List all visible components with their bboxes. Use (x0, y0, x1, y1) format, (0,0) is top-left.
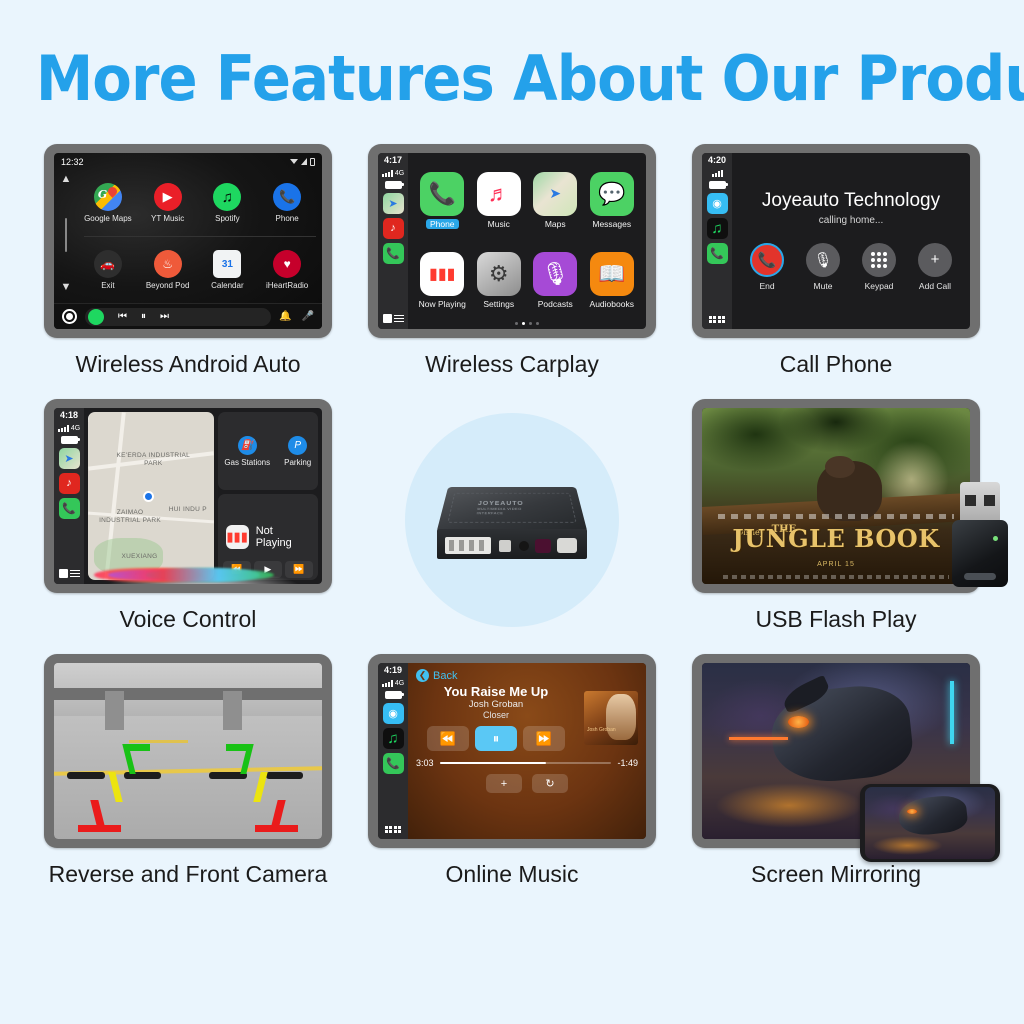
android-auto-app-grid-row2: 🚗 Exit ♨ Beyond Pod 31 Calendar (78, 237, 322, 303)
page-dot[interactable] (515, 322, 518, 325)
artwork-eye (907, 809, 917, 814)
button-label: Add Call (919, 281, 951, 291)
feature-cell-call-phone: 4:20 ◉ ♫ 📞 Joyeauto Technology calling h… (674, 144, 998, 399)
music-main: ❮ Back You Raise Me Up Josh Groban Close… (408, 663, 646, 839)
signal-icon (58, 425, 69, 432)
track-artist: Josh Groban (469, 699, 523, 710)
carplay-clock: 4:17 (384, 156, 402, 166)
media-controls: ⏮ ⏸ ⏭ (85, 308, 271, 326)
mute-microphone-icon: 🎙 (806, 243, 840, 277)
fast-forward-icon[interactable]: ⏩ (523, 726, 565, 751)
carplay-app-grid: 📞 Phone ♬ Music ➤ Maps 💬 (408, 153, 646, 322)
tablet-frame-camera (44, 654, 332, 848)
guide-bar-red (78, 825, 121, 832)
android-auto-bottom-bar: ⏮ ⏸ ⏭ 🔔 🎤 (54, 303, 322, 329)
button-label: End (759, 281, 774, 291)
netease-music-icon[interactable]: ♪ (383, 218, 404, 239)
poi-label: Gas Stations (224, 458, 270, 467)
next-track-icon[interactable]: ⏭ (160, 311, 169, 322)
mirrored-phone (860, 784, 1000, 862)
phone-icon[interactable]: 📞 (707, 243, 728, 264)
power-connector-icon (445, 537, 491, 554)
carplay-signal-row: 4G (382, 170, 404, 177)
network-label: 4G (395, 680, 404, 687)
playback-controls: ⏪ ⏸ ⏩ (427, 726, 565, 751)
feature-caption: Call Phone (780, 351, 893, 378)
add-call-button[interactable]: + Add Call (918, 243, 952, 291)
feature-cell-online-music: 4:19 4G ◉ ♫ 📞 ❮ Back (350, 654, 674, 909)
app-label: Now Playing (419, 299, 466, 309)
music-icon: ♬ (477, 172, 521, 216)
android-auto-app-google-maps[interactable]: G Google Maps (78, 170, 138, 236)
grid-view-icon[interactable] (383, 314, 392, 323)
map-label: KE'ERDA INDUSTRIAL PARK (116, 452, 191, 467)
remaining-time: -1:49 (617, 758, 638, 768)
feature-cell-usb-flash-play: Disney THE JUNGLE BOOK APRIL 15 USB Flas… (674, 399, 998, 654)
guide-bar-green (126, 744, 150, 751)
carplay-app-music[interactable]: ♬ Music (471, 160, 528, 240)
guide-line-yellow (254, 772, 268, 802)
map-label: ZAIMAO INDUSTRIAL PARK (96, 509, 165, 524)
app-label: Settings (483, 299, 514, 309)
rewind-icon[interactable]: ⏪ (427, 726, 469, 751)
android-auto-screen: 12:32 ▲ ▼ (54, 153, 322, 329)
google-maps-icon: G (94, 183, 122, 211)
microphone-icon[interactable]: 🎤 (302, 311, 314, 322)
app-label: Beyond Pod (146, 281, 190, 290)
android-auto-status-bar: 12:32 (54, 153, 322, 170)
now-playing-icon: ▮▮▮ (226, 525, 249, 549)
android-auto-app-phone[interactable]: 📞 Phone (257, 170, 317, 236)
android-auto-app-yt-music[interactable]: ▶ YT Music (138, 170, 198, 236)
feature-caption: Online Music (446, 861, 579, 888)
keypad-grid-icon[interactable] (709, 316, 726, 324)
current-location-icon (143, 491, 154, 502)
android-auto-app-iheartradio[interactable]: ♥ iHeartRadio (257, 237, 317, 303)
android-auto-system-icons (290, 158, 315, 166)
battery-icon (709, 181, 726, 189)
artwork-figure (606, 694, 636, 740)
call-button-row: 📞 End 🎙 Mute Keypad + (750, 243, 952, 291)
tablet-frame-voice: 4:18 4G ➤ ♪ 📞 (44, 399, 332, 593)
keypad-grid-icon[interactable] (385, 826, 402, 834)
feature-cell-device: JOYEAUTO MULTIMEDIA VIDEO INTERFACE (350, 399, 674, 654)
app-label: Maps (545, 219, 566, 229)
usb-port-icon (499, 540, 511, 552)
app-label: Phone (276, 214, 299, 223)
iheartradio-icon: ♥ (273, 250, 301, 278)
calendar-icon: 31 (213, 250, 241, 278)
artwork-neon (729, 737, 788, 740)
android-auto-right-icons: 🔔 🎤 (279, 311, 314, 322)
siri-waveform (84, 554, 322, 584)
podcasts-icon: 🎙 (533, 252, 577, 296)
keypad-button[interactable]: Keypad (862, 243, 896, 291)
tablet-frame-music: 4:19 4G ◉ ♫ 📞 ❮ Back (368, 654, 656, 848)
signal-icon (712, 170, 723, 177)
app-label: Calendar (211, 281, 243, 290)
app-label: Phone (426, 219, 459, 229)
youtube-music-icon: ▶ (154, 183, 182, 211)
phone-icon[interactable]: 📞 (383, 243, 404, 264)
voice-signal-row: 4G (58, 425, 80, 432)
android-auto-app-exit[interactable]: 🚗 Exit (78, 237, 138, 303)
android-auto-app-grid-row1: G Google Maps ▶ YT Music ♫ Spotify (78, 170, 322, 236)
siri-icon[interactable]: ◉ (707, 193, 728, 214)
carplay-home-screen: 4:17 4G ➤ ♪ 📞 (378, 153, 646, 329)
device-front-panel (437, 529, 587, 559)
signal-icon (382, 170, 393, 177)
grid-view-icon[interactable] (59, 569, 68, 578)
voice-control-screen: 4:18 4G ➤ ♪ 📞 (54, 408, 322, 584)
feature-cell-screen-mirroring: Screen Mirroring (674, 654, 998, 909)
previous-track-icon[interactable]: ⏮ (118, 311, 127, 322)
progress-row: 3:03 -1:49 (416, 758, 638, 768)
music-sidebar: 4:19 4G ◉ ♫ 📞 (378, 663, 408, 839)
garage-pillar (223, 691, 242, 730)
audio-jack-icon (519, 541, 529, 551)
battery-icon (385, 181, 402, 189)
tablet-frame-call: 4:20 ◉ ♫ 📞 Joyeauto Technology calling h… (692, 144, 980, 338)
track-title: You Raise Me Up (444, 684, 549, 699)
chevron-down-icon[interactable]: ▼ (61, 282, 72, 293)
garage-pillar (105, 691, 124, 730)
now-playing-status: Not Playing (256, 525, 310, 549)
music-player-screen: 4:19 4G ◉ ♫ 📞 ❮ Back (378, 663, 646, 839)
battery-icon (310, 158, 315, 166)
usb-led (993, 536, 998, 541)
carplay-sidebar: 4:17 4G ➤ ♪ 📞 (378, 153, 408, 329)
carplay-app-settings[interactable]: ⚙ Settings (471, 240, 528, 320)
fakra-connector-icon (557, 538, 577, 553)
poi-label: Parking (284, 458, 311, 467)
end-call-icon: 📞 (750, 243, 784, 277)
network-label: 4G (395, 170, 404, 177)
call-clock: 4:20 (708, 156, 726, 166)
track-info: You Raise Me Up Josh Groban Closer ⏪ ⏸ ⏩ (416, 684, 576, 751)
app-label: Google Maps (84, 214, 132, 223)
list-view-icon[interactable] (394, 314, 404, 323)
carplay-app-now-playing[interactable]: ▮▮▮ Now Playing (414, 240, 471, 320)
android-auto-app-spotify[interactable]: ♫ Spotify (198, 170, 258, 236)
progress-bar[interactable] (440, 762, 612, 764)
feature-cell-android-auto: 12:32 ▲ ▼ (26, 144, 350, 399)
android-auto-body: ▲ ▼ G Google Maps ▶ YT Music (54, 170, 322, 303)
release-date: APRIL 15 (702, 561, 970, 568)
audiobooks-icon: 📖 (590, 252, 634, 296)
back-label: Back (433, 670, 457, 682)
tablet-frame-mirroring (692, 654, 980, 848)
movie-poster: Disney THE JUNGLE BOOK APRIL 15 (702, 408, 970, 584)
progress-fill (440, 762, 547, 764)
device-brand-label: JOYEAUTO MULTIMEDIA VIDEO INTERFACE (476, 501, 547, 515)
maps-icon[interactable]: ➤ (59, 448, 80, 469)
guide-bar-red (255, 825, 298, 832)
track-row: You Raise Me Up Josh Groban Closer ⏪ ⏸ ⏩ (416, 684, 638, 751)
usb-grip (964, 573, 996, 580)
game-artwork-mirrored (865, 787, 995, 859)
poi-gas-stations[interactable]: ⛽ Gas Stations (224, 436, 270, 467)
poi-card: ⛽ Gas Stations P Parking (218, 412, 318, 490)
wifi-icon (290, 159, 298, 164)
pause-icon[interactable]: ⏸ (141, 311, 146, 322)
app-label: Messages (592, 219, 631, 229)
netease-music-icon[interactable]: ♪ (59, 473, 80, 494)
camera-feed (54, 663, 322, 839)
app-label: iHeartRadio (266, 281, 308, 290)
call-screen: 4:20 ◉ ♫ 📞 Joyeauto Technology calling h… (702, 153, 970, 329)
model-text: MULTIMEDIA VIDEO INTERFACE (476, 507, 547, 516)
network-label: 4G (71, 425, 80, 432)
settings-icon: ⚙ (477, 252, 521, 296)
feature-grid: 12:32 ▲ ▼ (0, 144, 1024, 909)
artwork-glow (715, 783, 862, 829)
beyondpod-icon: ♨ (154, 250, 182, 278)
battery-icon (61, 436, 78, 444)
artwork-glow (872, 836, 944, 855)
app-label: Music (488, 219, 510, 229)
elapsed-time: 3:03 (416, 758, 434, 768)
music-extra-controls: + ↻ (416, 774, 638, 793)
voice-clock: 4:18 (60, 411, 78, 421)
feature-caption: USB Flash Play (755, 606, 916, 633)
music-clock: 4:19 (384, 666, 402, 676)
usb-body (952, 520, 1008, 587)
carplay-app-audiobooks[interactable]: 📖 Audiobooks (584, 240, 641, 320)
page-title: More Features About Our Product (36, 0, 988, 110)
poster-fine-print (723, 575, 948, 579)
home-icon[interactable] (62, 309, 77, 324)
poster-credits (718, 514, 954, 519)
feature-caption: Screen Mirroring (751, 861, 921, 888)
app-label: YT Music (151, 214, 184, 223)
scrollbar-thumb[interactable] (65, 218, 67, 252)
maps-icon[interactable]: ➤ (383, 193, 404, 214)
artwork-artist-text: Josh Groban (587, 727, 616, 733)
usb-flash-drive-icon (952, 482, 1008, 587)
usb-connector (960, 482, 1000, 524)
poi-parking[interactable]: P Parking (284, 436, 311, 467)
phone-icon[interactable]: 📞 (383, 753, 404, 774)
feature-cell-carplay: 4:17 4G ➤ ♪ 📞 (350, 144, 674, 399)
mute-button[interactable]: 🎙 Mute (806, 243, 840, 291)
chevron-left-icon: ❮ (416, 669, 429, 682)
bell-icon[interactable]: 🔔 (279, 311, 291, 322)
phone-icon[interactable]: 📞 (59, 498, 80, 519)
battery-icon (385, 691, 402, 699)
android-auto-scroll-rail[interactable]: ▲ ▼ (54, 170, 78, 303)
calendar-day: 31 (222, 259, 233, 270)
android-auto-app-calendar[interactable]: 31 Calendar (198, 237, 258, 303)
add-call-icon: + (918, 243, 952, 277)
android-auto-app-beyond-pod[interactable]: ♨ Beyond Pod (138, 237, 198, 303)
button-label: Mute (814, 281, 833, 291)
tablet-frame-usb: Disney THE JUNGLE BOOK APRIL 15 (692, 399, 980, 593)
wheel-stop (67, 772, 105, 779)
album-artwork: Josh Groban (584, 691, 638, 745)
list-view-icon[interactable] (70, 569, 80, 578)
chevron-up-icon[interactable]: ▲ (61, 174, 72, 185)
android-auto-clock: 12:32 (61, 157, 84, 167)
fakra-connector-icon (535, 539, 551, 553)
repeat-icon[interactable]: ↻ (532, 774, 568, 793)
button-label: Keypad (865, 281, 894, 291)
page-dot-active[interactable] (522, 322, 525, 325)
signal-icon (382, 680, 393, 687)
poster-bear-head (825, 456, 854, 479)
spotify-icon: ♫ (213, 183, 241, 211)
guide-line-yellow (108, 772, 122, 802)
app-label: Exit (101, 281, 114, 290)
maps-icon: ➤ (533, 172, 577, 216)
track-album: Closer (483, 710, 509, 720)
feature-caption: Voice Control (120, 606, 257, 633)
voice-sidebar: 4:18 4G ➤ ♪ 📞 (54, 408, 84, 584)
carplay-page-dots[interactable] (408, 322, 646, 329)
carplay-app-maps[interactable]: ➤ Maps (527, 160, 584, 240)
spotify-icon[interactable]: ♫ (383, 728, 404, 749)
siri-icon[interactable]: ◉ (383, 703, 404, 724)
parking-icon: P (288, 436, 307, 455)
map-label: HUI INDU P (166, 506, 210, 513)
page-dot[interactable] (536, 322, 539, 325)
carplay-view-toggle[interactable] (383, 314, 404, 323)
artwork-neon (950, 681, 954, 744)
keypad-icon (862, 243, 896, 277)
carplay-main: 📞 Phone ♬ Music ➤ Maps 💬 (408, 153, 646, 329)
car-exit-icon: 🚗 (94, 250, 122, 278)
pause-icon[interactable]: ⏸ (475, 726, 517, 751)
carplay-app-podcasts[interactable]: 🎙 Podcasts (527, 240, 584, 320)
call-status: calling home... (819, 215, 883, 226)
tablet-frame-android-auto: 12:32 ▲ ▼ (44, 144, 332, 338)
feature-caption: Wireless Carplay (425, 351, 599, 378)
usb-video-screen: Disney THE JUNGLE BOOK APRIL 15 (702, 408, 970, 584)
movie-title: JUNGLE BOOK (702, 524, 970, 553)
voice-dashboard: KE'ERDA INDUSTRIAL PARK ZAIMAO INDUSTRIA… (84, 408, 322, 584)
caller-name: Joyeauto Technology (762, 190, 940, 212)
page-dot[interactable] (529, 322, 532, 325)
app-label: Audiobooks (590, 299, 634, 309)
phone-icon: 📞 (273, 183, 301, 211)
add-icon[interactable]: + (486, 774, 522, 793)
call-sidebar: 4:20 ◉ ♫ 📞 (702, 153, 732, 329)
end-call-button[interactable]: 📞 End (750, 243, 784, 291)
app-label: Podcasts (538, 299, 573, 309)
guide-bar-green (226, 744, 250, 751)
wheel-stop (266, 772, 304, 779)
carplay-app-messages[interactable]: 💬 Messages (584, 160, 641, 240)
siri-wave (108, 568, 275, 582)
multimedia-interface-box: JOYEAUTO MULTIMEDIA VIDEO INTERFACE (437, 481, 587, 559)
spotify-icon[interactable]: ♫ (707, 218, 728, 239)
carplay-app-phone[interactable]: 📞 Phone (414, 160, 471, 240)
phone-screen (865, 787, 995, 859)
feature-cell-voice-control: 4:18 4G ➤ ♪ 📞 (26, 399, 350, 654)
now-playing-icon: ▮▮▮ (420, 252, 464, 296)
feature-cell-reverse-camera: Reverse and Front Camera (26, 654, 350, 909)
device-top-cover: JOYEAUTO MULTIMEDIA VIDEO INTERFACE (437, 487, 587, 530)
tablet-frame-carplay: 4:17 4G ➤ ♪ 📞 (368, 144, 656, 338)
app-label: Spotify (215, 214, 239, 223)
feature-caption: Wireless Android Auto (75, 351, 300, 378)
back-button[interactable]: ❮ Back (416, 669, 638, 682)
music-signal-row: 4G (382, 680, 404, 687)
gas-station-icon: ⛽ (238, 436, 257, 455)
reverse-camera-screen (54, 663, 322, 839)
phone-icon: 📞 (420, 172, 464, 216)
call-main: Joyeauto Technology calling home... 📞 En… (732, 153, 970, 329)
spotify-icon[interactable] (88, 309, 104, 325)
signal-icon (301, 158, 307, 165)
garage-beam (54, 688, 322, 700)
feature-caption: Reverse and Front Camera (49, 861, 328, 888)
device-highlight-circle: JOYEAUTO MULTIMEDIA VIDEO INTERFACE (405, 413, 619, 627)
messages-icon: 💬 (590, 172, 634, 216)
voice-view-toggle[interactable] (59, 569, 80, 578)
